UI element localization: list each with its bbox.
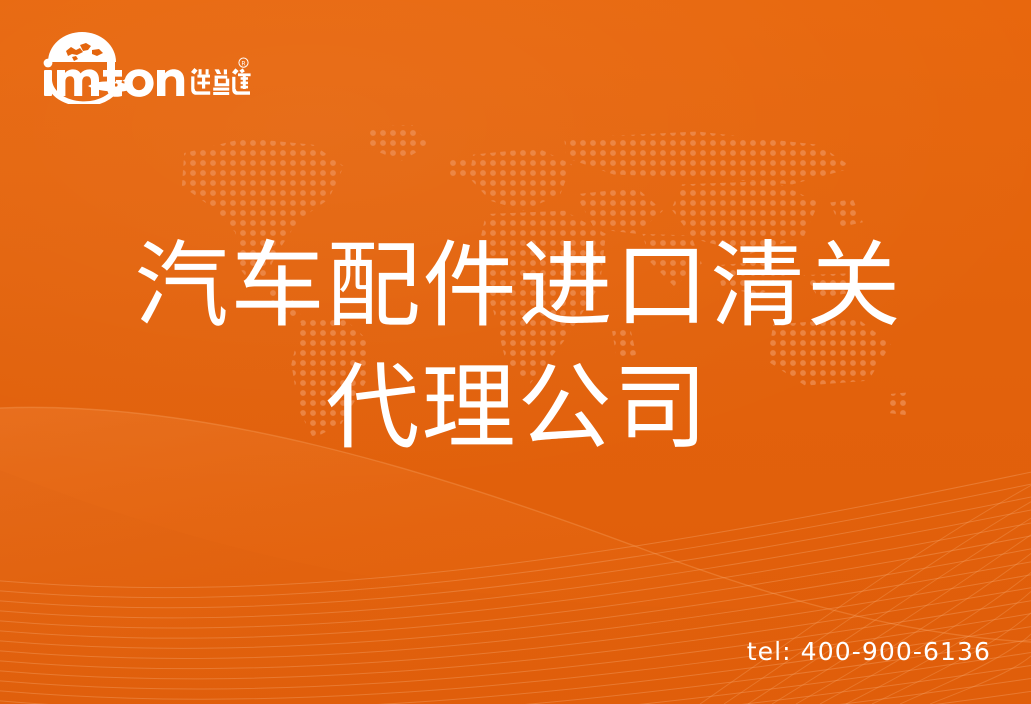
contact-phone[interactable]: tel: 400-900-6136 (747, 637, 991, 666)
headline-line-1: 汽车配件进口清关 (0, 226, 1031, 348)
imton-logo[interactable]: R (36, 26, 251, 104)
headline-line-2: 代理公司 (0, 348, 1031, 470)
page-title: 汽车配件进口清关 代理公司 (0, 226, 1031, 470)
promo-banner: R 汽车配件进口清关 代理公司 tel: 400-900-6136 (0, 0, 1031, 704)
svg-text:R: R (241, 60, 245, 67)
